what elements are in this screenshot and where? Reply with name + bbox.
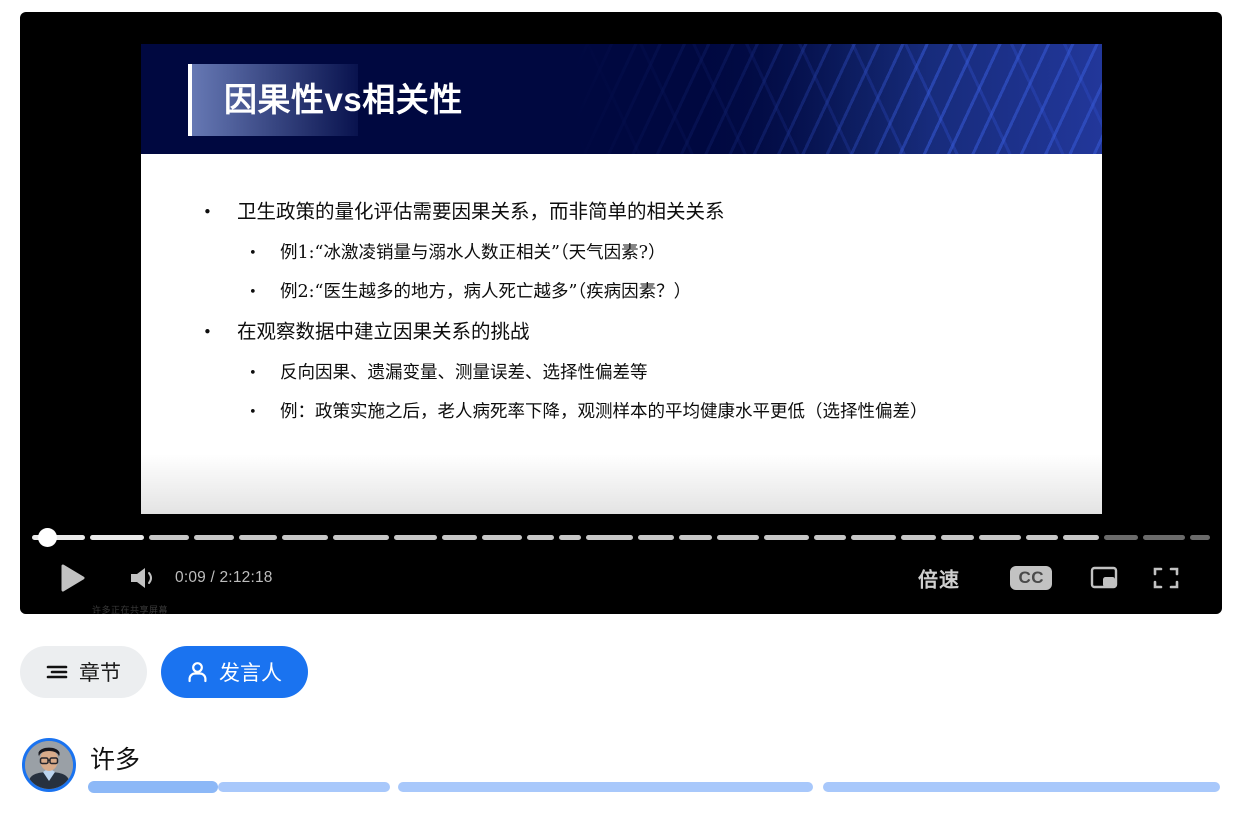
play-button[interactable] — [60, 564, 86, 592]
play-icon — [60, 564, 86, 592]
fullscreen-icon — [1152, 565, 1180, 591]
slide-bullet: • 反向因果、遗漏变量、测量误差、选择性偏差等 — [203, 354, 1072, 393]
progress-segment[interactable] — [482, 535, 521, 540]
captions-button[interactable]: CC — [1010, 566, 1052, 590]
volume-button[interactable] — [128, 565, 160, 591]
bullet-marker: • — [249, 354, 280, 393]
slide-header: 因果性vs相关性 — [141, 44, 1102, 154]
progress-bar[interactable] — [32, 530, 1210, 546]
avatar-image — [25, 741, 73, 789]
progress-segment[interactable] — [559, 535, 580, 540]
progress-segment[interactable] — [979, 535, 1021, 540]
bullet-text: 例1:“冰激凌销量与溺水人数正相关”（天气因素?） — [280, 234, 666, 273]
bullet-text: 在观察数据中建立因果关系的挑战 — [237, 312, 530, 352]
progress-track[interactable] — [32, 535, 1210, 540]
speaker-timeline[interactable] — [88, 782, 1220, 792]
bullet-marker: • — [249, 273, 280, 312]
progress-segment[interactable] — [941, 535, 974, 540]
volume-icon — [128, 565, 160, 591]
time-display: 0:09 / 2:12:18 — [175, 569, 273, 587]
progress-segment[interactable] — [638, 535, 675, 540]
bullet-text: 例：政策实施之后，老人病死率下降，观测样本的平均健康水平更低（选择性偏差） — [280, 393, 928, 432]
slide-content: 因果性vs相关性 • 卫生政策的量化评估需要因果关系，而非简单的相关关系 • 例… — [141, 44, 1102, 514]
slide-bullet: • 卫生政策的量化评估需要因果关系，而非简单的相关关系 — [203, 192, 1072, 232]
tab-speakers[interactable]: 发言人 — [161, 646, 308, 698]
progress-segment[interactable] — [1063, 535, 1099, 540]
tab-chapters-label: 章节 — [79, 657, 121, 687]
progress-segment[interactable] — [194, 535, 234, 540]
bullet-text: 卫生政策的量化评估需要因果关系，而非简单的相关关系 — [237, 192, 725, 232]
fullscreen-button[interactable] — [1152, 565, 1180, 591]
slide-title: 因果性vs相关性 — [224, 74, 463, 126]
progress-segment[interactable] — [764, 535, 809, 540]
picture-in-picture-button[interactable] — [1090, 565, 1118, 591]
progress-segment[interactable] — [149, 535, 189, 540]
avatar[interactable] — [22, 738, 76, 792]
progress-segment[interactable] — [1190, 535, 1210, 540]
bullet-marker: • — [249, 234, 280, 273]
progress-segment[interactable] — [1143, 535, 1186, 540]
speaker-timeline-segment[interactable] — [823, 782, 1220, 792]
slide-body: • 卫生政策的量化评估需要因果关系，而非简单的相关关系 • 例1:“冰激凌销量与… — [141, 154, 1102, 514]
picture-in-picture-icon — [1090, 565, 1118, 591]
progress-segment[interactable] — [814, 535, 846, 540]
progress-segment[interactable] — [717, 535, 760, 540]
progress-segment[interactable] — [527, 535, 555, 540]
progress-segment[interactable] — [394, 535, 437, 540]
speaker-name: 许多 — [90, 740, 140, 776]
bullet-marker: • — [203, 312, 237, 352]
panel-tabs: 章节 发言人 — [20, 646, 308, 698]
progress-segment[interactable] — [851, 535, 896, 540]
bullet-text: 例2:“医生越多的地方，病人死亡越多”（疾病因素？） — [280, 273, 691, 312]
list-icon — [46, 664, 68, 680]
slide-bullet: • 例2:“医生越多的地方，病人死亡越多”（疾病因素？） — [203, 273, 1072, 312]
speaker-timeline-segment[interactable] — [398, 782, 813, 792]
bullet-text: 反向因果、遗漏变量、测量误差、选择性偏差等 — [280, 354, 648, 393]
progress-segment[interactable] — [679, 535, 711, 540]
progress-segment[interactable] — [586, 535, 633, 540]
progress-segment[interactable] — [282, 535, 328, 540]
bullet-marker: • — [249, 393, 280, 432]
cc-icon: CC — [1010, 566, 1052, 590]
speaker-timeline-segment[interactable] — [218, 782, 390, 792]
progress-segment[interactable] — [442, 535, 478, 540]
player-controls: 0:09 / 2:12:18 倍速 CC — [20, 550, 1222, 606]
progress-segment[interactable] — [901, 535, 937, 540]
bullet-marker: • — [203, 192, 237, 232]
person-icon — [187, 661, 208, 683]
slide-bullet: • 例1:“冰激凌销量与溺水人数正相关”（天气因素?） — [203, 234, 1072, 273]
progress-segment[interactable] — [1104, 535, 1138, 540]
speaker-timeline-segment[interactable] — [88, 781, 218, 793]
progress-segment[interactable] — [90, 535, 143, 540]
playback-speed-button[interactable]: 倍速 — [918, 564, 960, 593]
slide-bullet: • 在观察数据中建立因果关系的挑战 — [203, 312, 1072, 352]
slide-bullet: • 例：政策实施之后，老人病死率下降，观测样本的平均健康水平更低（选择性偏差） — [203, 393, 1072, 432]
progress-segment[interactable] — [1026, 535, 1058, 540]
progress-segment[interactable] — [239, 535, 276, 540]
tab-chapters[interactable]: 章节 — [20, 646, 147, 698]
screen-sharing-note: 许多正在共享屏幕 — [92, 603, 168, 614]
video-player[interactable]: 因果性vs相关性 • 卫生政策的量化评估需要因果关系，而非简单的相关关系 • 例… — [20, 12, 1222, 614]
tab-speakers-label: 发言人 — [219, 657, 282, 687]
progress-segment[interactable] — [333, 535, 389, 540]
progress-knob[interactable] — [38, 528, 57, 547]
